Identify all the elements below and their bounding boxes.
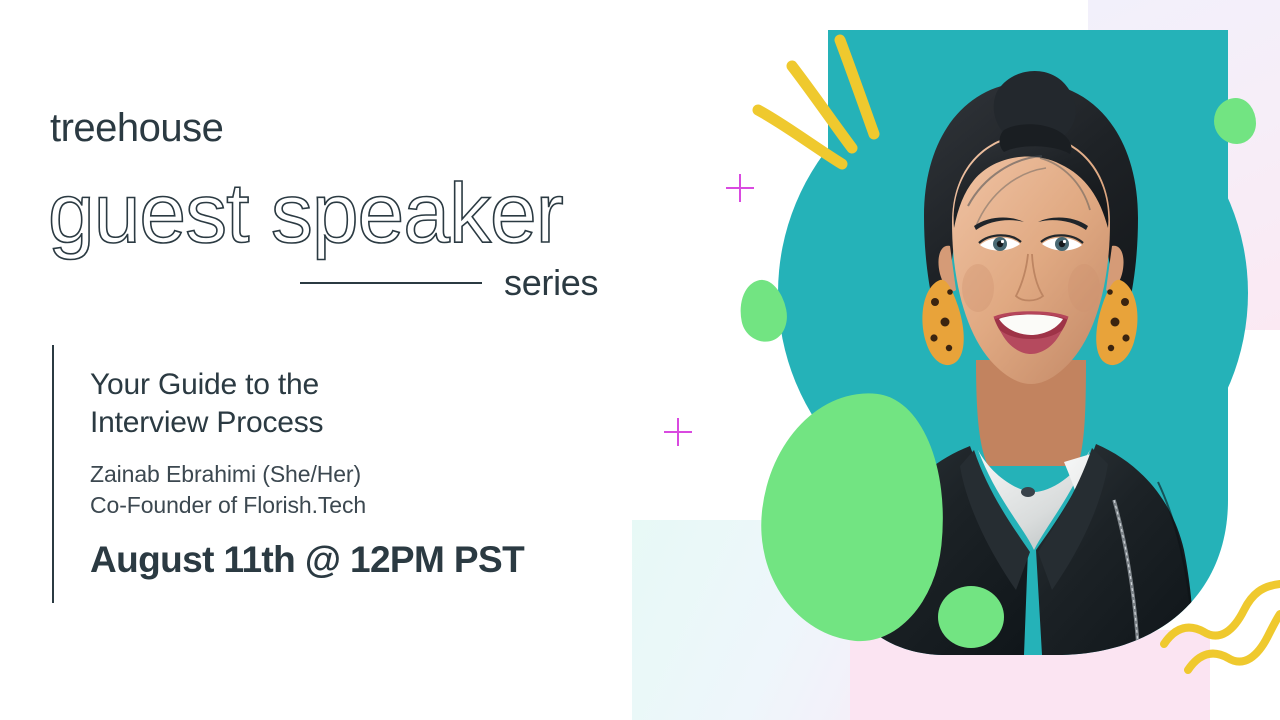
event-datetime: August 11th @ 12PM PST [90,539,630,581]
series-row: series [300,258,630,308]
series-label: series [504,262,598,304]
green-dot-corner-shape [1214,98,1256,144]
headline-outline-text: guest speaker [40,160,660,270]
speaker-name: Zainab Ebrahimi (She/Her) [90,459,630,490]
session-info: Your Guide to the Interview Process Zain… [90,366,630,581]
speaker-role: Co-Founder of Florish.Tech [90,490,630,521]
series-divider-rule [300,282,482,284]
vertical-accent-bar [52,345,54,603]
talk-title: Your Guide to the Interview Process [90,366,630,443]
speaker-block: Zainab Ebrahimi (She/Her) Co-Founder of … [90,459,630,521]
yellow-brushstroke-group [740,30,940,210]
brand-wordmark: treehouse [50,106,223,151]
talk-title-line-1: Your Guide to the [90,366,630,404]
svg-text:guest speaker: guest speaker [48,166,563,260]
plus-mark-icon-top [726,174,754,202]
green-dot-shape [938,586,1004,648]
talk-title-line-2: Interview Process [90,404,630,442]
yellow-squiggle-group [1160,580,1280,690]
plus-mark-icon-middle [664,418,692,446]
poster-canvas: treehouse guest speaker series Your Guid… [0,0,1280,720]
poster-text-content: treehouse guest speaker series Your Guid… [0,0,660,720]
